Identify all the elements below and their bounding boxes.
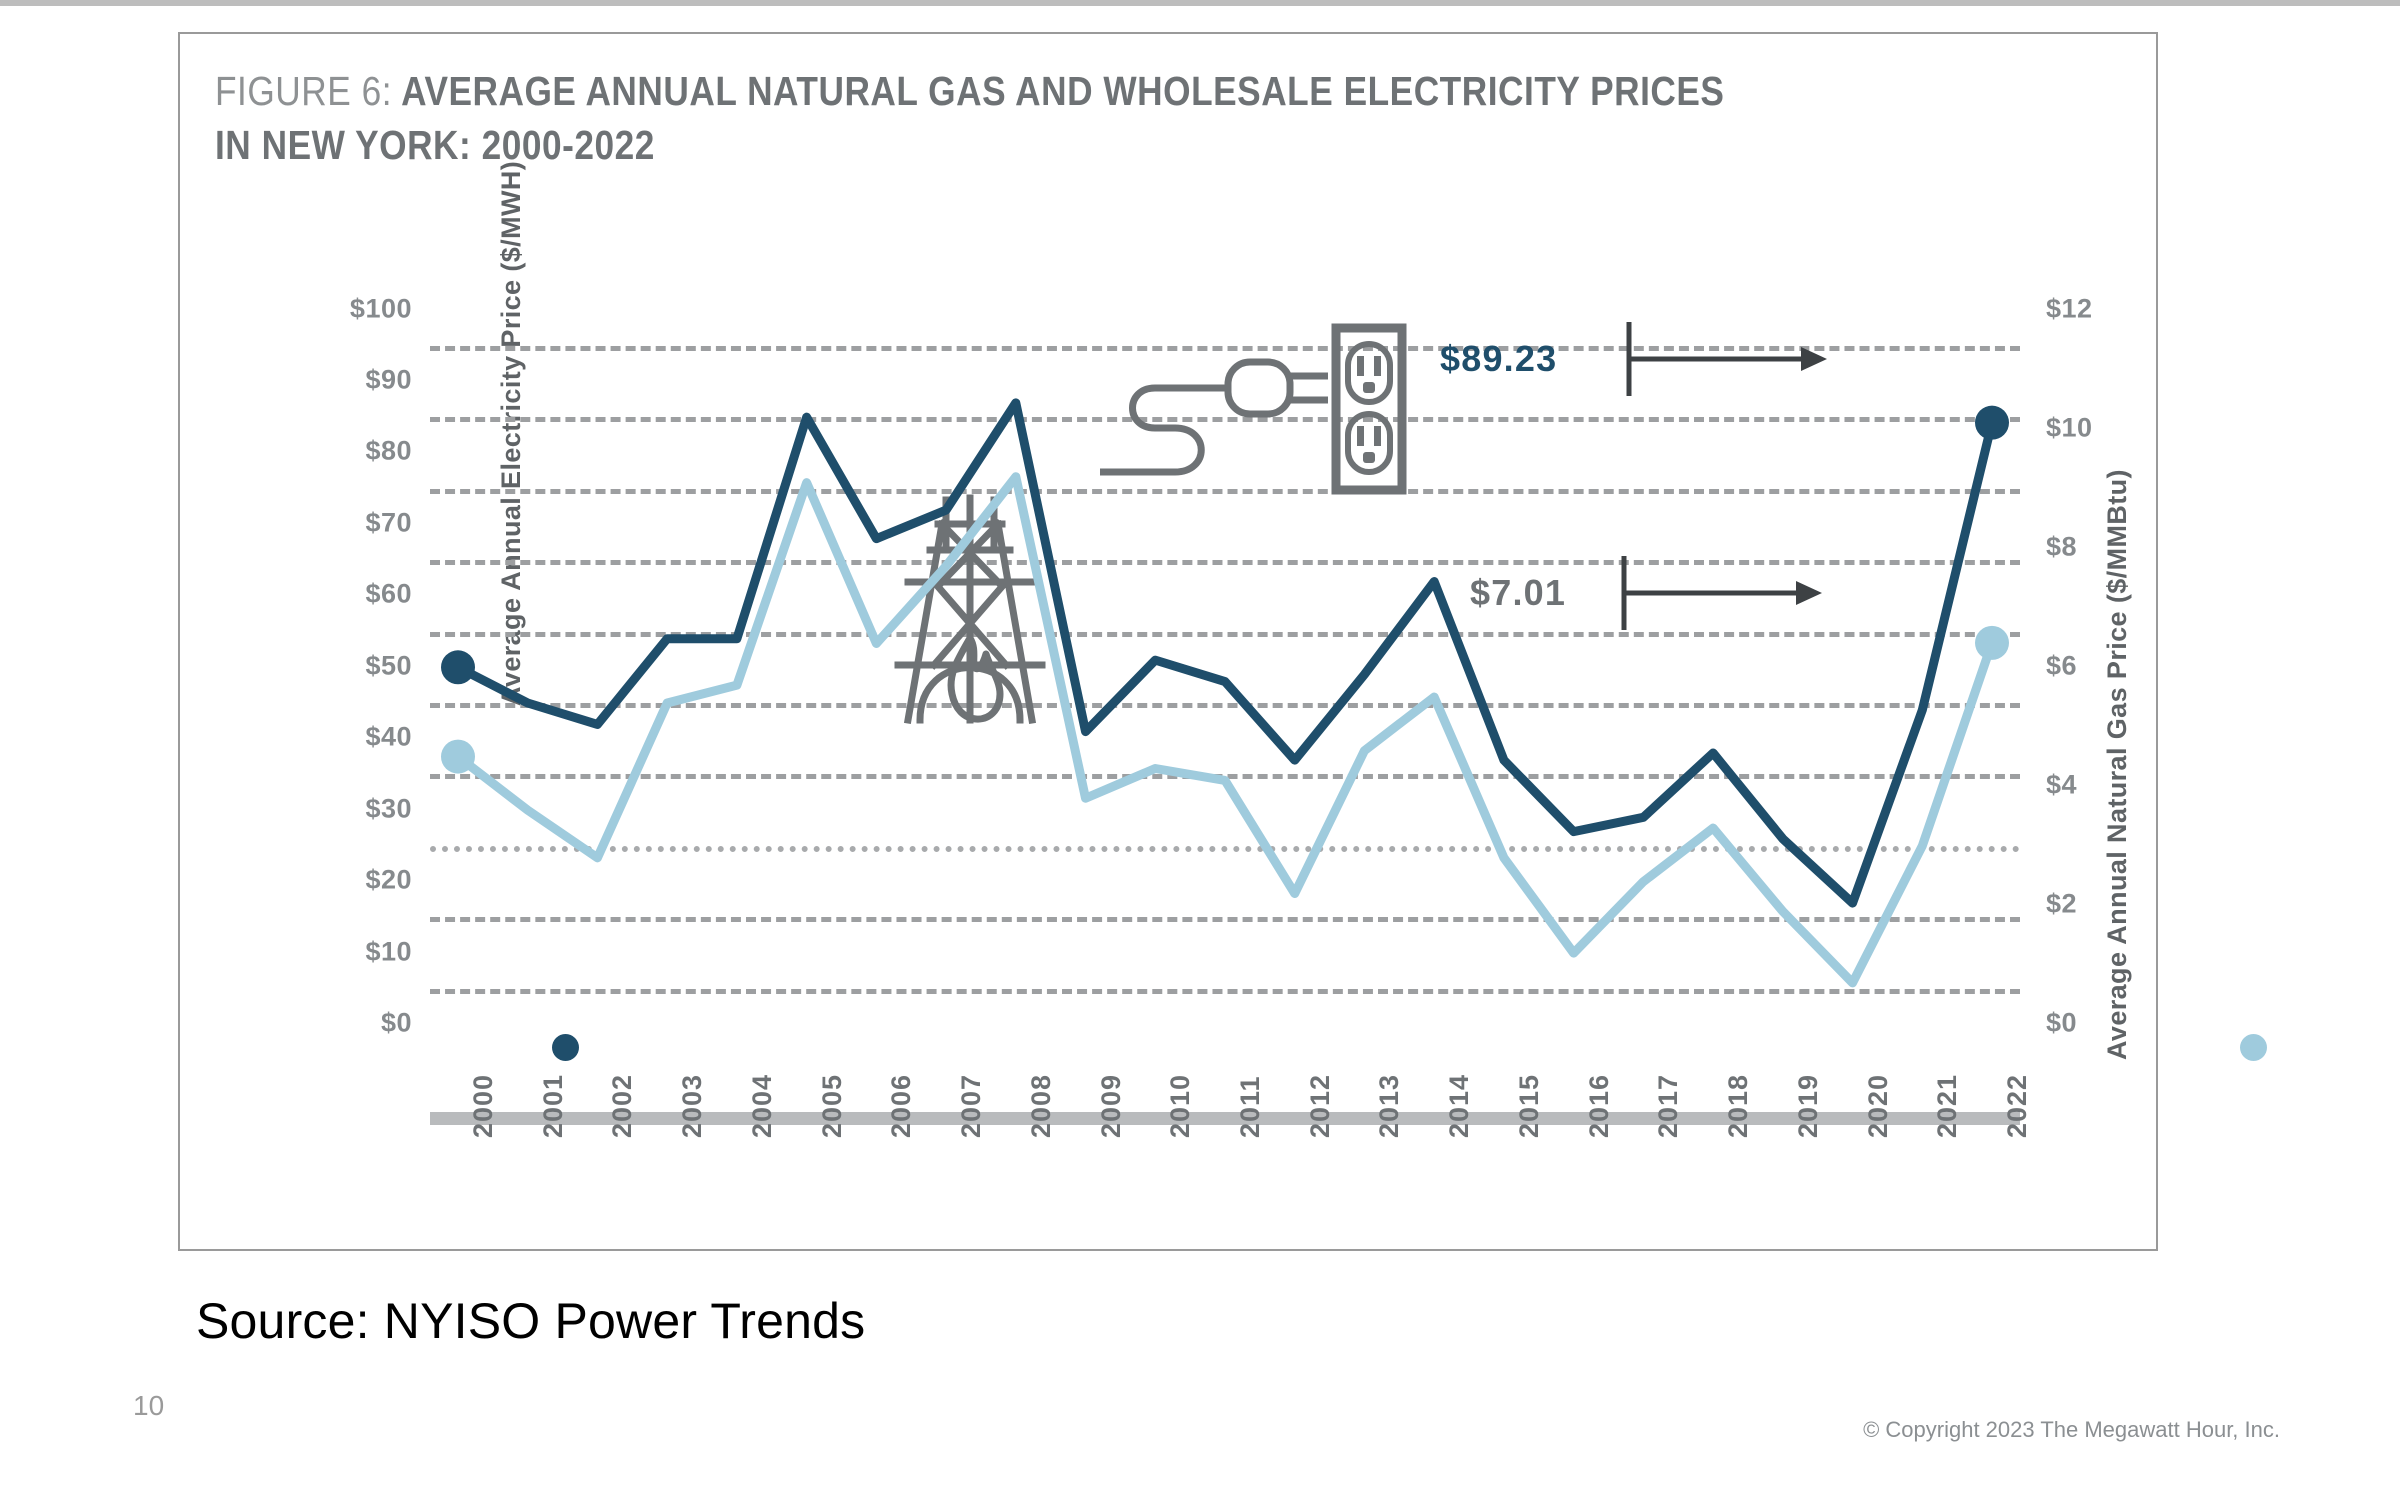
y-axis-left-tick-label: $50 [365,650,412,681]
y-axis-right-tick-label: $4 [2046,769,2077,800]
legend-dot-electricity [552,1034,579,1061]
series-endpoint-marker [441,650,475,684]
x-axis-tick-label: 2019 [1793,1074,1824,1138]
y-axis-right-tick-label: $10 [2046,412,2093,443]
y-axis-right-tick-label: $6 [2046,650,2077,681]
y-axis-left-tick-label: $0 [381,1008,412,1039]
y-axis-left-tick-label: $90 [365,365,412,396]
series-line-electricity [458,403,1992,903]
series-lines [430,310,2020,1096]
y-axis-left-tick-label: $80 [365,436,412,467]
x-axis-tick-label: 2013 [1374,1074,1405,1138]
y-axis-right-tick-label: $12 [2046,293,2093,324]
annotation-electricity-value: $89.23 [1440,338,1557,380]
y-axis-left-tick-label: $30 [365,793,412,824]
page-number: 10 [133,1390,164,1422]
y-axis-left-tick-label: $70 [365,507,412,538]
figure-card: FIGURE 6: AVERAGE ANNUAL NATURAL GAS AND… [178,32,2158,1251]
y-axis-left-tick-label: $60 [365,579,412,610]
y-axis-right-title: Average Annual Natural Gas Price ($/MMBt… [2102,469,2133,1060]
x-axis-tick-label: 2002 [607,1074,638,1138]
x-axis-tick-label: 2009 [1096,1074,1127,1138]
x-axis-tick-label: 2005 [817,1074,848,1138]
y-axis-left-tick-label: $40 [365,722,412,753]
x-axis-tick-label: 2020 [1863,1074,1894,1138]
annotation-gas-leader [1620,552,1830,634]
x-axis-baseline [430,1112,2020,1125]
chart-area: Average Annual Electricity Price ($/MWH)… [180,34,2156,1249]
x-axis-tick-label: 2022 [2002,1074,2033,1138]
source-note: Source: NYISO Power Trends [196,1292,865,1350]
y-axis-left-tick-label: $100 [350,293,412,324]
plot-region: $100$90$80$70$60$50$40$30$20$10$0 $12$10… [430,310,2020,1096]
y-axis-right-tick-label: $0 [2046,1008,2077,1039]
x-axis-tick-label: 2016 [1584,1074,1615,1138]
annotation-electricity-leader [1625,318,1835,400]
x-axis-tick-label: 2001 [538,1074,569,1138]
x-axis-tick-label: 2006 [886,1074,917,1138]
x-axis-tick-label: 2007 [956,1074,987,1138]
x-axis-tick-label: 2014 [1444,1074,1475,1138]
copyright-notice: © Copyright 2023 The Megawatt Hour, Inc. [1863,1417,2280,1443]
x-axis-tick-label: 2017 [1653,1074,1684,1138]
x-axis-tick-label: 2000 [468,1074,499,1138]
annotation-gas-value: $7.01 [1470,572,1566,614]
y-axis-right-tick-label: $8 [2046,531,2077,562]
y-axis-right-tick-label: $2 [2046,889,2077,920]
x-axis-tick-label: 2010 [1165,1074,1196,1138]
x-axis-tick-label: 2008 [1026,1074,1057,1138]
series-endpoint-marker [441,740,475,774]
legend-dot-natural-gas [2240,1034,2267,1061]
x-axis-tick-label: 2021 [1932,1074,1963,1138]
y-axis-left-tick-label: $10 [365,936,412,967]
y-axis-left-tick-label: $20 [365,865,412,896]
x-axis-tick-label: 2012 [1305,1074,1336,1138]
x-axis-tick-label: 2004 [747,1074,778,1138]
x-axis-tick-label: 2018 [1723,1074,1754,1138]
page-top-rule [0,0,2400,6]
x-axis-tick-label: 2011 [1235,1075,1266,1138]
series-endpoint-marker [1975,626,2009,660]
series-endpoint-marker [1975,406,2009,440]
x-axis-tick-label: 2003 [677,1074,708,1138]
x-axis-tick-label: 2015 [1514,1074,1545,1138]
